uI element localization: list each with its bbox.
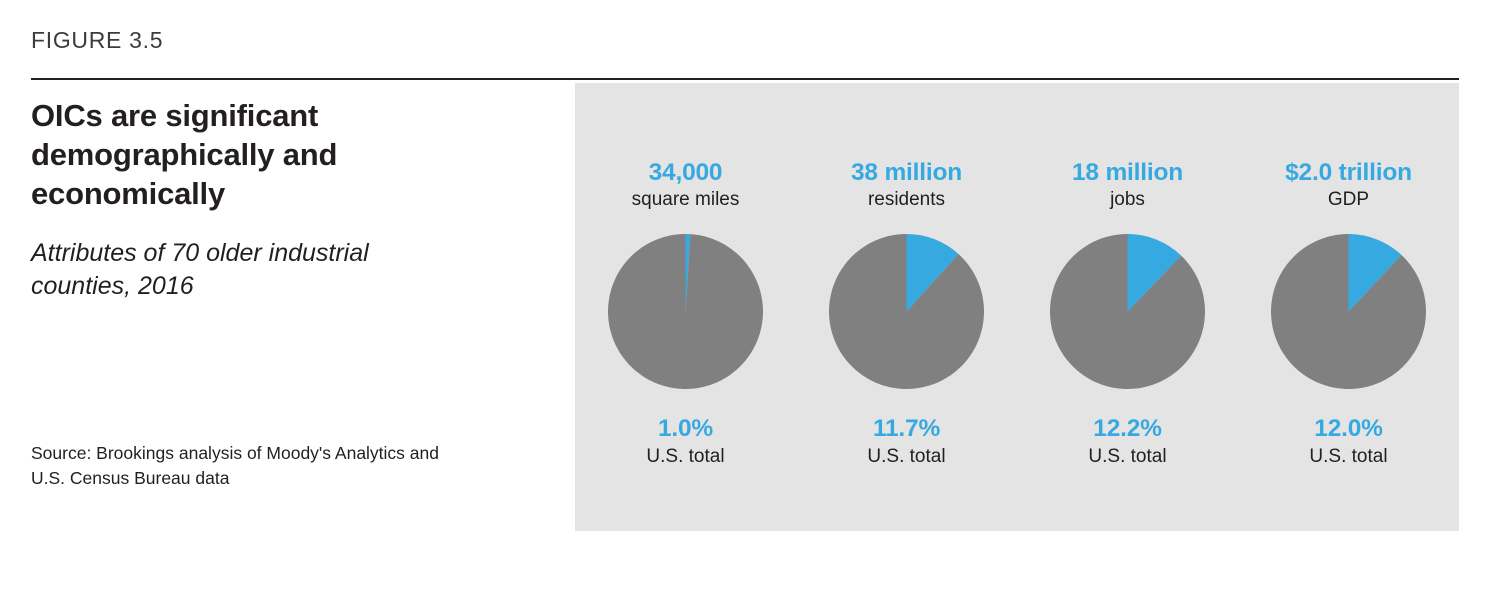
stat-value: $2.0 trillion	[1285, 159, 1412, 186]
chart-panel: 34,000square miles1.0%U.S. total38 milli…	[575, 83, 1459, 531]
percent-unit: U.S. total	[1309, 446, 1387, 469]
percent-value: 1.0%	[658, 415, 713, 442]
pie-chart	[1271, 234, 1426, 389]
stat-unit: jobs	[1110, 189, 1145, 212]
pie-chart-svg	[1271, 234, 1426, 389]
pie-chart-cell: $2.0 trillionGDP12.0%U.S. total	[1238, 159, 1459, 468]
stat-value: 34,000	[649, 159, 723, 186]
percent-value: 12.2%	[1093, 415, 1161, 442]
chart-subtitle: Attributes of 70 older industrial counti…	[31, 237, 411, 303]
figure-label: FIGURE 3.5	[31, 27, 163, 54]
stat-value: 18 million	[1072, 159, 1183, 186]
pie-chart-svg	[608, 234, 763, 389]
left-text-column: OICs are significant demographically and…	[31, 96, 551, 303]
pie-chart-cell: 18 millionjobs12.2%U.S. total	[1017, 159, 1238, 468]
stat-value: 38 million	[851, 159, 962, 186]
pie-slice	[1271, 234, 1426, 389]
stat-unit: GDP	[1328, 189, 1369, 212]
pie-chart-cell: 34,000square miles1.0%U.S. total	[575, 159, 796, 468]
page-title: OICs are significant demographically and…	[31, 96, 431, 213]
percent-value: 12.0%	[1314, 415, 1382, 442]
percent-unit: U.S. total	[646, 446, 724, 469]
pie-slice	[1050, 234, 1205, 389]
pie-chart	[608, 234, 763, 389]
percent-unit: U.S. total	[1088, 446, 1166, 469]
figure-container: FIGURE 3.5 OICs are significant demograp…	[0, 0, 1500, 604]
pie-chart	[1050, 234, 1205, 389]
stat-unit: residents	[868, 189, 945, 212]
pie-chart	[829, 234, 984, 389]
pie-slice	[829, 234, 984, 389]
pie-chart-row: 34,000square miles1.0%U.S. total38 milli…	[575, 83, 1459, 531]
percent-value: 11.7%	[873, 415, 940, 442]
percent-unit: U.S. total	[867, 446, 945, 469]
header-divider	[31, 78, 1459, 80]
pie-slice	[608, 234, 763, 389]
stat-unit: square miles	[632, 189, 740, 212]
pie-chart-cell: 38 millionresidents11.7%U.S. total	[796, 159, 1017, 468]
pie-chart-svg	[829, 234, 984, 389]
pie-chart-svg	[1050, 234, 1205, 389]
source-note: Source: Brookings analysis of Moody's An…	[31, 441, 451, 491]
